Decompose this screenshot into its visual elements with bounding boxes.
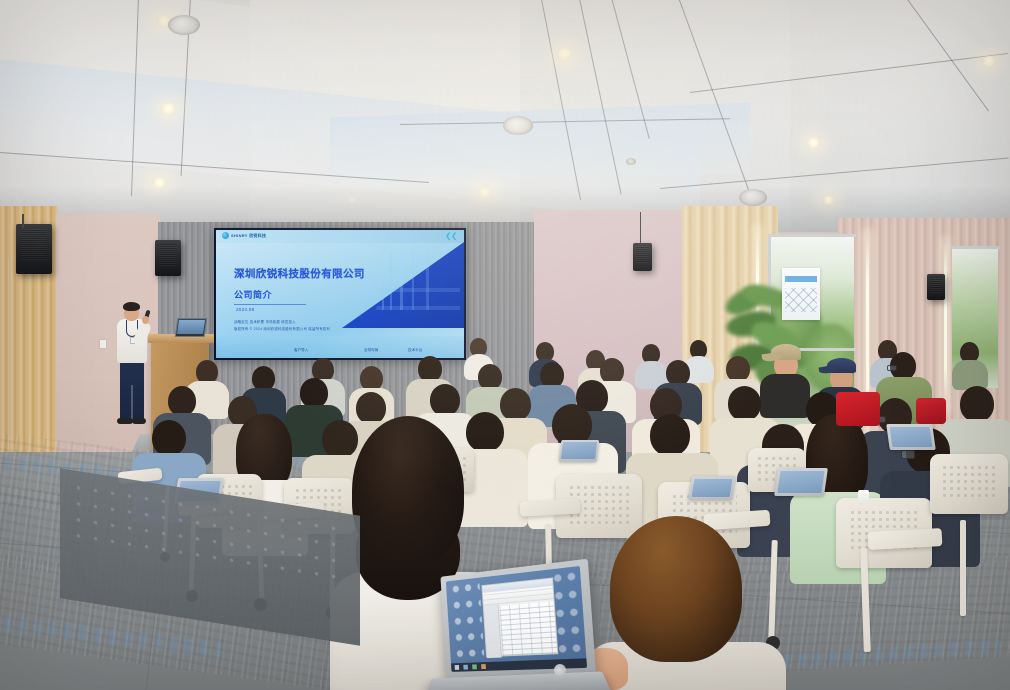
speaker-cable xyxy=(22,214,24,228)
window-frame xyxy=(768,234,856,237)
window-frame xyxy=(950,246,1000,249)
shinry-logo-icon xyxy=(222,232,229,239)
wall-speaker-center-right xyxy=(633,243,652,271)
slide-bottom-label-2: 全球布局 xyxy=(364,348,378,353)
slide-footer-line-2: 版权所有 © 2024 深圳欣锐科技股份有限公司 保留所有权利 xyxy=(234,326,330,331)
wall-speaker-right xyxy=(927,274,945,300)
spreadsheet-window[interactable] xyxy=(481,577,558,657)
eyeglasses xyxy=(887,365,897,371)
slide-logo-mark-right: ❮❮ xyxy=(445,232,457,240)
red-bag xyxy=(916,398,946,424)
slide-company-title: 深圳欣锐科技股份有限公司 xyxy=(234,266,365,281)
water-cup[interactable] xyxy=(858,490,869,505)
speaker-cable xyxy=(640,212,641,244)
ceiling-downlight xyxy=(806,138,821,148)
slide-date: 2024.08 xyxy=(236,307,254,312)
ceiling-speaker xyxy=(503,116,533,135)
slide-product-image xyxy=(376,252,460,310)
slide-logo: SHINRY 欣锐科技 xyxy=(222,232,266,239)
presenter-hair xyxy=(123,302,140,311)
chair-tablet-arm[interactable] xyxy=(520,498,581,516)
attendee-laptop[interactable] xyxy=(560,440,598,462)
podium-laptop-screen xyxy=(177,320,205,334)
slide-logo-text: SHINRY 欣锐科技 xyxy=(231,233,266,239)
conference-room-photo: SHINRY 欣锐科技 ❮❮ 深圳欣锐科技股份有限公司 公司简介 2024.08… xyxy=(0,0,1010,690)
ceiling-sprinkler xyxy=(626,158,636,165)
wall-led-strip xyxy=(944,240,947,410)
presentation-slide: SHINRY 欣锐科技 ❮❮ 深圳欣锐科技股份有限公司 公司简介 2024.08… xyxy=(216,230,464,358)
training-chair-back[interactable] xyxy=(930,454,1008,514)
ceiling-downlight xyxy=(981,56,997,67)
laptop-screen xyxy=(446,566,587,672)
presenter-hand xyxy=(142,316,149,324)
projection-screen: SHINRY 欣锐科技 ❮❮ 深圳欣锐科技股份有限公司 公司简介 2024.08… xyxy=(214,228,466,360)
wall-switch[interactable] xyxy=(100,340,106,348)
foreground-attendee-hair xyxy=(610,516,742,662)
attendee-laptop[interactable] xyxy=(776,468,826,496)
wall-speaker-left xyxy=(16,224,52,274)
slide-bottom-label-3: 技术平台 xyxy=(408,348,422,353)
ceiling xyxy=(0,0,1010,232)
slide-subtitle: 公司简介 xyxy=(234,288,272,301)
wall-poster xyxy=(782,268,820,320)
ceiling-downlight xyxy=(556,48,573,60)
slide-bottom-label-1: 客户导入 xyxy=(294,348,308,353)
ceiling-speaker xyxy=(168,15,200,35)
attendee-laptop[interactable] xyxy=(888,424,934,450)
foreground-attendee-hair-top xyxy=(352,416,464,566)
ceiling-downlight xyxy=(160,103,177,115)
slide-divider xyxy=(234,304,306,305)
eyeglasses xyxy=(901,450,915,459)
slide-footer-line-1: 战略定位 技术积累 市场拓展 研发投入 xyxy=(234,319,296,324)
chair-leg xyxy=(960,520,966,616)
wall-speaker-center-left xyxy=(155,240,181,276)
attendee-laptop[interactable] xyxy=(690,476,734,500)
foreground-laptop[interactable] xyxy=(436,568,620,690)
red-bag xyxy=(836,392,880,426)
slide-bottom-strip xyxy=(216,336,464,358)
